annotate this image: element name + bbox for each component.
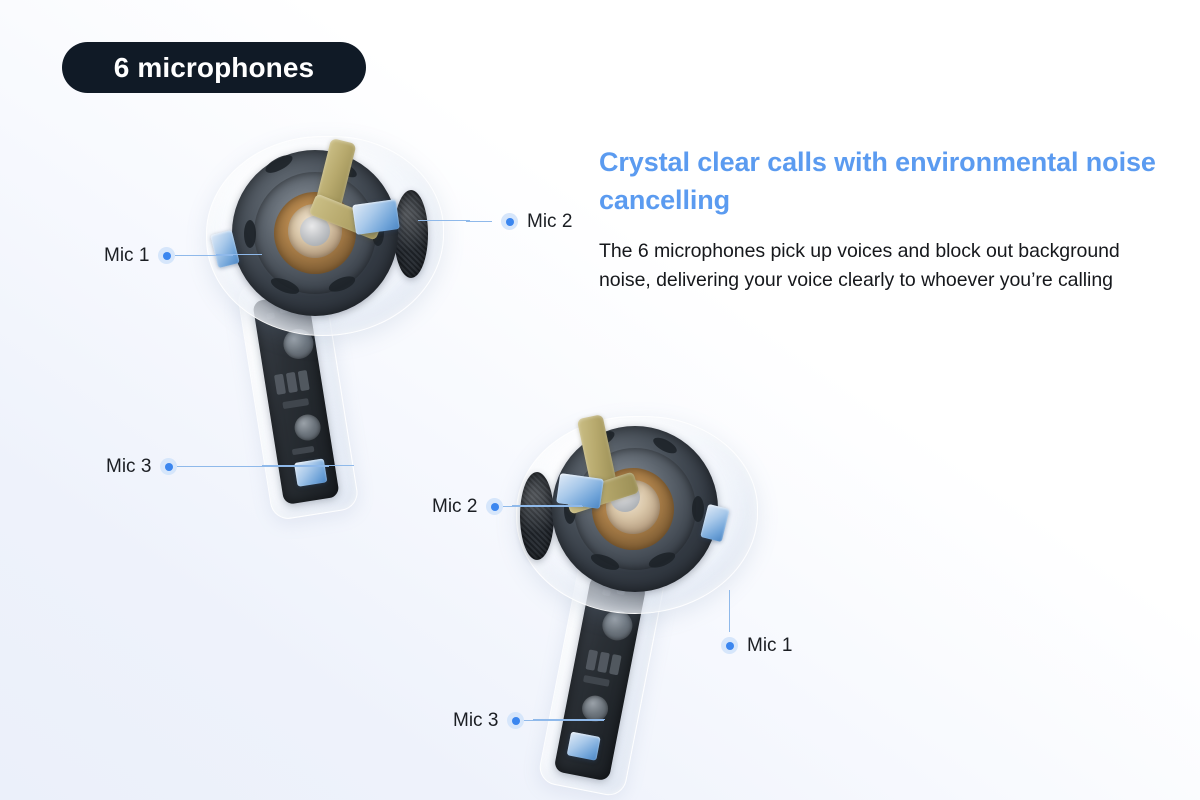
mesh-grille-bottom — [520, 472, 554, 560]
callout-label: Mic 1 — [747, 636, 792, 655]
callout-mic1-bottom: Mic 1 — [721, 636, 792, 655]
callout-mic3-bottom: Mic 3 — [453, 711, 604, 730]
stem-pad — [609, 654, 622, 675]
callout-dot-icon — [507, 712, 524, 729]
callout-dot-icon — [486, 498, 503, 515]
feature-body: The 6 microphones pick up voices and blo… — [599, 237, 1165, 297]
feature-heading: Crystal clear calls with environmental n… — [599, 143, 1165, 220]
mesh-grille-top — [394, 190, 428, 278]
leader-line — [524, 720, 604, 721]
stem-pad — [286, 372, 298, 393]
callout-dot-icon — [501, 213, 518, 230]
callout-label: Mic 1 — [104, 246, 149, 265]
leader-line-mic2-top — [418, 220, 470, 221]
callout-dot-icon — [160, 458, 177, 475]
feature-slide: 6 microphones — [0, 0, 1200, 800]
badge-label: 6 microphones — [114, 54, 314, 82]
leader-line — [466, 221, 492, 222]
callout-mic2-bottom: Mic 2 — [432, 497, 583, 516]
leader-line-mic1-bottom — [729, 590, 730, 632]
callout-dot-icon — [721, 637, 738, 654]
stem-capacitor-top-2 — [293, 413, 323, 443]
mic2-module-top — [352, 199, 400, 235]
leader-line — [503, 506, 583, 507]
stem-chip — [292, 446, 315, 455]
stem-chip — [282, 398, 309, 409]
callout-label: Mic 2 — [527, 212, 572, 231]
stem-pad — [298, 370, 310, 391]
leader-line — [177, 466, 329, 467]
microphone-count-badge: 6 microphones — [62, 42, 366, 93]
driver-vent — [244, 220, 256, 248]
stem-chip — [583, 675, 610, 687]
mic3-module-bottom — [567, 731, 601, 760]
stem-pad — [274, 374, 286, 395]
callout-dot-icon — [158, 247, 175, 264]
stem-pad — [585, 649, 598, 670]
callout-mic1-top: Mic 1 — [104, 246, 233, 265]
callout-mic2-top: Mic 2 — [466, 212, 572, 231]
callout-label: Mic 2 — [432, 497, 477, 516]
driver-vent — [692, 496, 704, 522]
feature-copy-block: Crystal clear calls with environmental n… — [599, 143, 1165, 296]
callout-label: Mic 3 — [453, 711, 498, 730]
stem-pad — [597, 652, 610, 673]
callout-label: Mic 3 — [106, 457, 151, 476]
callout-mic3-top: Mic 3 — [106, 457, 329, 476]
leader-line — [175, 255, 233, 256]
